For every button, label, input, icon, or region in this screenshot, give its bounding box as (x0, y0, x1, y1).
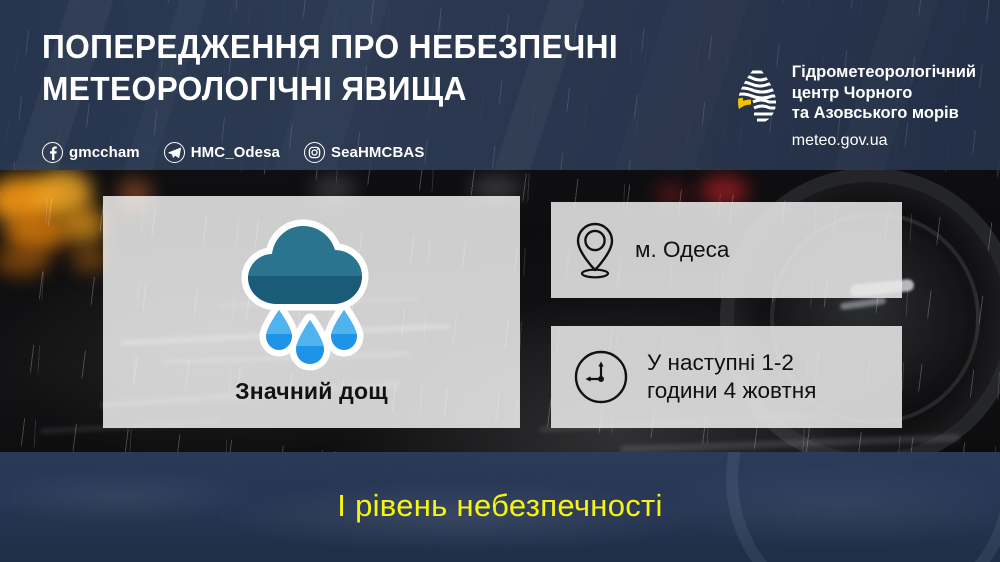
band-arc-shape (726, 452, 1000, 562)
telegram-icon (164, 142, 185, 163)
time-line-2: години 4 жовтня (647, 377, 816, 405)
weather-phenomenon-label: Значний дощ (235, 378, 388, 405)
danger-level-text: І рівень небезпечності (337, 488, 663, 524)
water-droplet-waves-icon (735, 64, 779, 126)
title-line-1: ПОПЕРЕДЖЕННЯ ПРО НЕБЕЗПЕЧНІ (42, 26, 618, 68)
danger-level-banner: І рівень небезпечності (0, 452, 1000, 562)
location-text: м. Одеса (635, 236, 729, 264)
social-label-facebook: gmccham (69, 144, 140, 161)
time-panel: У наступні 1-2 години 4 жовтня (551, 326, 902, 428)
social-label-telegram: HMC_Odesa (191, 144, 280, 161)
logo-website-url[interactable]: meteo.gov.ua (792, 131, 976, 151)
title-line-2: МЕТЕОРОЛОГІЧНІ ЯВИЩА (42, 68, 618, 110)
instagram-icon (304, 142, 325, 163)
social-link-facebook[interactable]: gmccham (42, 142, 140, 163)
social-links: gmccham HMC_Odesa SeaHMCBAS (42, 142, 424, 163)
facebook-icon (42, 142, 63, 163)
map-pin-icon (573, 221, 617, 279)
rain-cloud-icon (234, 210, 390, 374)
logo-text-block: Гідрометеорологічний центр Чорного та Аз… (792, 62, 976, 151)
weather-phenomenon-card: Значний дощ (103, 196, 520, 428)
organization-logo[interactable]: Гідрометеорологічний центр Чорного та Аз… (735, 62, 976, 151)
time-line-1: У наступні 1-2 (647, 349, 816, 377)
social-link-instagram[interactable]: SeaHMCBAS (304, 142, 424, 163)
logo-line-2: центр Чорного (792, 83, 976, 104)
header-banner: ПОПЕРЕДЖЕННЯ ПРО НЕБЕЗПЕЧНІ МЕТЕОРОЛОГІЧ… (0, 0, 1000, 170)
location-line-1: м. Одеса (635, 236, 729, 264)
social-link-telegram[interactable]: HMC_Odesa (164, 142, 280, 163)
location-panel: м. Одеса (551, 202, 902, 298)
page-title: ПОПЕРЕДЖЕННЯ ПРО НЕБЕЗПЕЧНІ МЕТЕОРОЛОГІЧ… (42, 26, 642, 110)
social-label-instagram: SeaHMCBAS (331, 144, 424, 161)
time-text: У наступні 1-2 години 4 жовтня (647, 349, 816, 405)
logo-line-1: Гідрометеорологічний (792, 62, 976, 83)
logo-line-3: та Азовського морів (792, 103, 976, 124)
clock-icon (573, 349, 629, 405)
